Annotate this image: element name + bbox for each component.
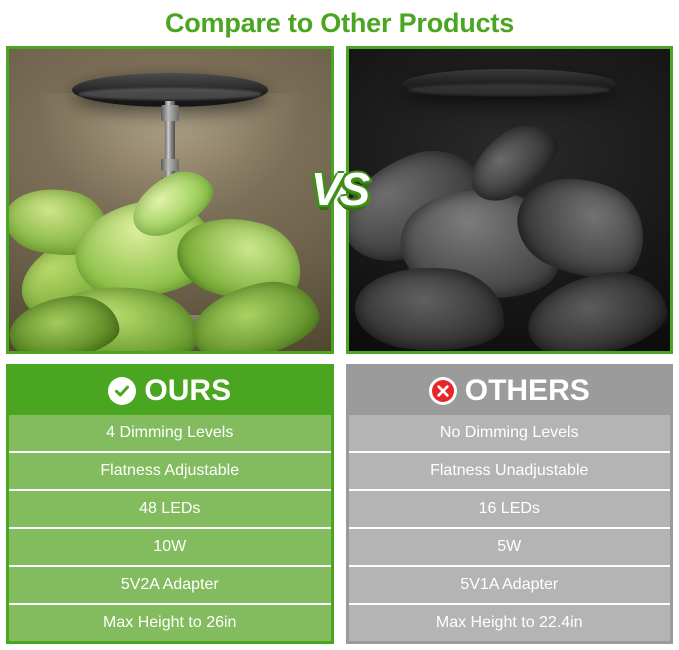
- comparison-infographic: Compare to Other Products: [0, 0, 679, 650]
- competitor-light-disc-icon: [402, 69, 616, 99]
- vs-badge: VS: [294, 156, 386, 222]
- photo-comparison-row: VS: [6, 46, 673, 354]
- pole-joint: [161, 159, 179, 171]
- page-title: Compare to Other Products: [0, 0, 679, 40]
- check-circle-icon: [108, 377, 136, 405]
- others-table-header: OTHERS: [349, 367, 671, 415]
- others-heading-label: OTHERS: [465, 374, 590, 408]
- table-row: Max Height to 22.4in: [349, 605, 671, 641]
- table-row: 10W: [9, 529, 331, 567]
- ours-product-photo: [6, 46, 334, 354]
- table-row: Flatness Adjustable: [9, 453, 331, 491]
- others-product-photo: [346, 46, 674, 354]
- vs-label: VS: [311, 166, 368, 212]
- table-row: 4 Dimming Levels: [9, 415, 331, 453]
- table-row: 5V1A Adapter: [349, 567, 671, 605]
- ours-table: OURS 4 Dimming Levels Flatness Adjustabl…: [6, 364, 334, 644]
- pole-joint: [161, 105, 179, 121]
- table-row: 5W: [349, 529, 671, 567]
- table-row: 5V2A Adapter: [9, 567, 331, 605]
- table-row: 48 LEDs: [9, 491, 331, 529]
- table-row: 16 LEDs: [349, 491, 671, 529]
- table-row: Flatness Unadjustable: [349, 453, 671, 491]
- table-row: No Dimming Levels: [349, 415, 671, 453]
- spec-comparison-tables: OURS 4 Dimming Levels Flatness Adjustabl…: [6, 364, 673, 644]
- ours-heading-label: OURS: [144, 374, 231, 408]
- table-row: Max Height to 26in: [9, 605, 331, 641]
- others-table: OTHERS No Dimming Levels Flatness Unadju…: [346, 364, 674, 644]
- cross-circle-icon: [429, 377, 457, 405]
- ours-table-header: OURS: [9, 367, 331, 415]
